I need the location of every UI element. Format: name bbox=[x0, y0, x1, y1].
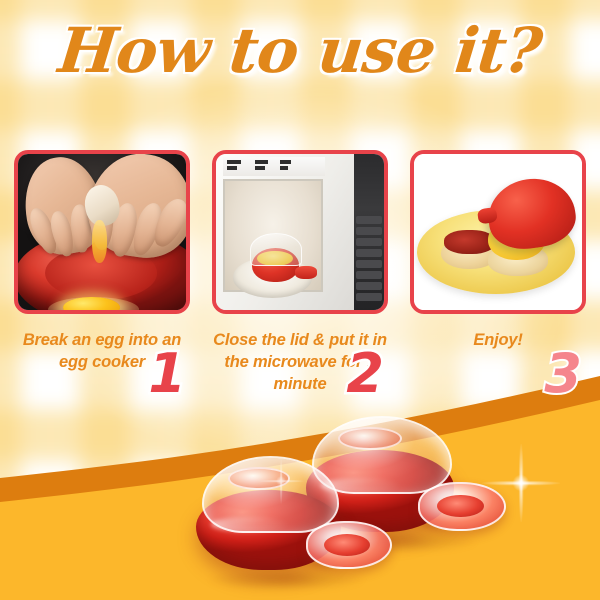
photo-microwave bbox=[216, 154, 384, 310]
step-3-number-badge: 3 bbox=[544, 347, 582, 401]
poster: How to use it? bbox=[0, 0, 600, 600]
step-1-number-badge: 1 bbox=[148, 347, 186, 401]
banner-shape bbox=[0, 370, 600, 600]
step-3-photo-frame bbox=[410, 150, 586, 314]
photo-break-egg bbox=[18, 154, 186, 310]
bottom-banner bbox=[0, 370, 600, 600]
step-1-photo-frame bbox=[14, 150, 190, 314]
photo-enjoy-breakfast bbox=[414, 154, 582, 310]
step-2-photo-frame bbox=[212, 150, 388, 314]
step-3: 3 Enjoy! bbox=[410, 150, 586, 395]
step-1: 1 Break an egg into an egg cooker bbox=[14, 150, 190, 395]
step-2: 2 Close the lid & put it in the microwav… bbox=[212, 150, 388, 395]
step-2-number-badge: 2 bbox=[346, 347, 384, 401]
page-title: How to use it? bbox=[0, 14, 600, 87]
steps-row: 1 Break an egg into an egg cooker bbox=[0, 150, 600, 395]
